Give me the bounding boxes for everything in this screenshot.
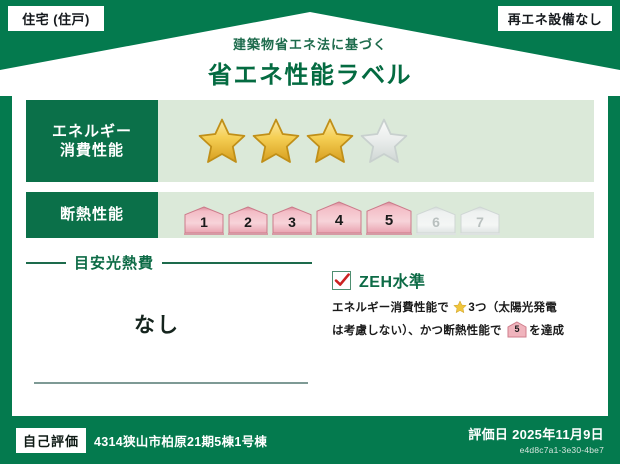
evaluation-date-value: 2025年11月9日 <box>512 427 604 442</box>
zeh-title: ZEH水準 <box>359 268 426 292</box>
self-evaluation-badge: 自己評価 <box>16 428 86 453</box>
insulation-grade-value: 1 <box>184 214 224 230</box>
zeh-description: エネルギー消費性能で 3つ（太陽光発電 は考慮しない）、かつ断熱性能で 5 を達… <box>332 299 590 341</box>
row-insulation-performance: 断熱性能 1234567 <box>26 192 594 238</box>
zeh-checkbox[interactable] <box>332 271 351 290</box>
rule-right <box>162 262 312 264</box>
star-rating <box>158 100 594 182</box>
insulation-grade-6: 6 <box>416 206 456 235</box>
tab-dwelling-type: 住宅 (住戸) <box>8 6 104 31</box>
zeh-desc-part2: は考慮しない）、かつ断熱性能で <box>332 325 502 337</box>
insulation-grade-value: 7 <box>460 214 500 230</box>
insulation-grade-value: 3 <box>272 214 312 230</box>
row-energy-label: エネルギー 消費性能 <box>26 100 158 182</box>
evaluation-date-label: 評価日 <box>468 427 508 442</box>
star-empty-icon <box>360 117 408 165</box>
row-energy-performance: エネルギー 消費性能 <box>26 100 594 182</box>
rule-left <box>26 262 66 264</box>
inline-grade-badge: 5 <box>507 321 527 338</box>
footer: 自己評価 4314狭山市柏原21期5棟1号棟 評価日 2025年11月9日 e4… <box>0 416 620 464</box>
insulation-grade-value: 6 <box>416 214 456 230</box>
zeh-desc-part1: エネルギー消費性能で <box>332 302 449 314</box>
insulation-grade-scale: 1234567 <box>158 192 594 238</box>
row-insulation-label: 断熱性能 <box>26 192 158 238</box>
body-panel: エネルギー 消費性能 断熱性能 1234567 目安光熱費 なし <box>12 86 608 416</box>
insulation-grade-3: 3 <box>272 206 312 235</box>
insulation-grade-2: 2 <box>228 206 268 235</box>
page-title: 省エネ性能ラベル <box>0 55 620 90</box>
utility-cost-section: 目安光熱費 なし <box>26 248 318 400</box>
row-insulation-label-line1: 断熱性能 <box>60 205 124 224</box>
check-icon <box>334 272 351 289</box>
property-address: 4314狭山市柏原21期5棟1号棟 <box>94 431 267 450</box>
evaluation-date: 評価日 2025年11月9日 <box>468 424 604 443</box>
insulation-grade-5: 5 <box>366 201 412 235</box>
inline-grade-value: 5 <box>507 322 527 337</box>
energy-performance-label: 住宅 (住戸) 再エネ設備なし 建築物省エネ法に基づく 省エネ性能ラベル エネル… <box>0 0 620 464</box>
zeh-desc-star-count: 3つ（太陽光発電 <box>468 302 557 314</box>
zeh-header: ZEH水準 <box>332 268 590 292</box>
star-filled-icon <box>198 117 246 165</box>
evaluation-date-block: 評価日 2025年11月9日 e4d8c7a1-3e30-4be7 <box>468 424 604 455</box>
insulation-grade-value: 2 <box>228 214 268 230</box>
tab-renewable-status: 再エネ設備なし <box>498 6 612 31</box>
lower-section: 目安光熱費 なし ZEH水準 エネルギー消費性能で <box>26 248 594 400</box>
insulation-grade-value: 4 <box>316 212 362 229</box>
label-hash-id: e4d8c7a1-3e30-4be7 <box>468 445 604 455</box>
insulation-grade-4: 4 <box>316 201 362 235</box>
row-energy-label-line1: エネルギー <box>52 122 132 141</box>
utility-cost-title: 目安光熱費 <box>74 252 154 273</box>
zeh-section: ZEH水準 エネルギー消費性能で 3つ（太陽光発電 は考慮しない）、かつ断熱性能… <box>318 248 594 400</box>
utility-cost-value: なし <box>26 309 318 339</box>
inline-star-icon <box>453 300 467 321</box>
insulation-grade-value: 5 <box>366 212 412 229</box>
insulation-grade-1: 1 <box>184 206 224 235</box>
row-energy-label-line2: 消費性能 <box>60 141 124 160</box>
insulation-grade-7: 7 <box>460 206 500 235</box>
title-block: 建築物省エネ法に基づく 省エネ性能ラベル <box>0 34 620 90</box>
zeh-desc-part3: を達成 <box>529 325 564 337</box>
title-subtitle: 建築物省エネ法に基づく <box>0 34 620 53</box>
utility-cost-bottom-rule <box>34 382 308 384</box>
star-filled-icon <box>252 117 300 165</box>
utility-cost-header: 目安光熱費 <box>26 252 318 273</box>
star-filled-icon <box>306 117 354 165</box>
